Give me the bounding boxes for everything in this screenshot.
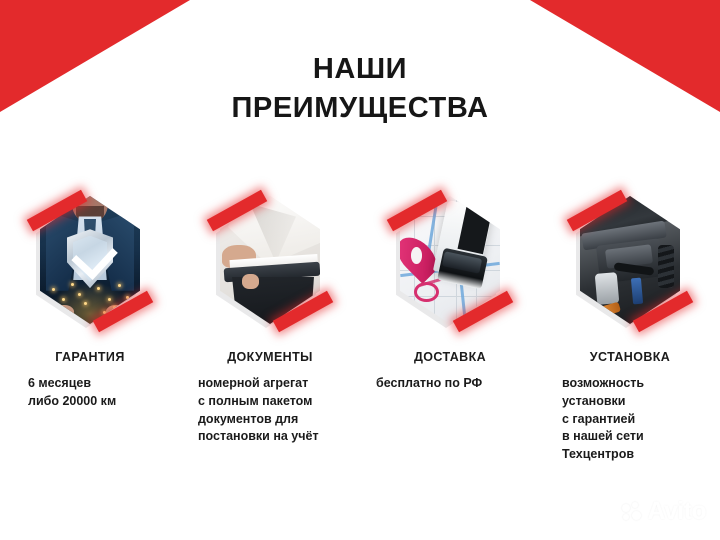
advantage-heading: ДОКУМЕНТЫ xyxy=(186,350,354,364)
advantage-card-guarantee: ГАРАНТИЯ 6 месяцев либо 20000 км xyxy=(0,186,180,496)
hex-illustration-documents xyxy=(204,186,336,334)
hex-illustration-installation xyxy=(564,186,696,334)
desc-line: установки xyxy=(562,393,714,411)
hex-illustration-delivery xyxy=(384,186,516,334)
avito-dots-logo-icon xyxy=(622,502,642,522)
desc-line: либо 20000 км xyxy=(28,393,174,411)
advantage-description: номерной агрегат с полным пакетом докуме… xyxy=(186,375,354,446)
avito-watermark: Avito xyxy=(622,497,706,526)
advantage-heading: ДОСТАВКА xyxy=(366,350,534,364)
advantage-description: бесплатно по РФ xyxy=(366,375,534,393)
desc-line: с полным пакетом xyxy=(198,393,354,411)
desc-line: возможность xyxy=(562,375,714,393)
page-title-line2: ПРЕИМУЩЕСТВА xyxy=(0,89,720,128)
page-title-line1: НАШИ xyxy=(0,50,720,89)
advantage-card-documents: ДОКУМЕНТЫ номерной агрегат с полным паке… xyxy=(180,186,360,496)
desc-line: в нашей сети xyxy=(562,428,714,446)
avito-wordmark: Avito xyxy=(647,497,706,526)
desc-line: номерной агрегат xyxy=(198,375,354,393)
advantage-card-installation: УСТАНОВКА возможность установки с гарант… xyxy=(540,186,720,496)
advantage-card-delivery: ДОСТАВКА бесплатно по РФ xyxy=(360,186,540,496)
desc-line: с гарантией xyxy=(562,411,714,429)
advantage-heading: УСТАНОВКА xyxy=(546,350,714,364)
advantage-heading: ГАРАНТИЯ xyxy=(6,350,174,364)
desc-line: документов для xyxy=(198,411,354,429)
advantages-poster: НАШИ ПРЕИМУЩЕСТВА xyxy=(0,0,720,540)
page-title: НАШИ ПРЕИМУЩЕСТВА xyxy=(0,50,720,128)
desc-line: бесплатно по РФ xyxy=(376,375,534,393)
hex-illustration-guarantee xyxy=(24,186,156,334)
desc-line: 6 месяцев xyxy=(28,375,174,393)
advantage-description: возможность установки с гарантией в наше… xyxy=(546,375,714,464)
desc-line: постановки на учёт xyxy=(198,428,354,446)
desc-line: Техцентров xyxy=(562,446,714,464)
advantages-list: ГАРАНТИЯ 6 месяцев либо 20000 км xyxy=(0,186,720,496)
advantage-description: 6 месяцев либо 20000 км xyxy=(6,375,174,411)
